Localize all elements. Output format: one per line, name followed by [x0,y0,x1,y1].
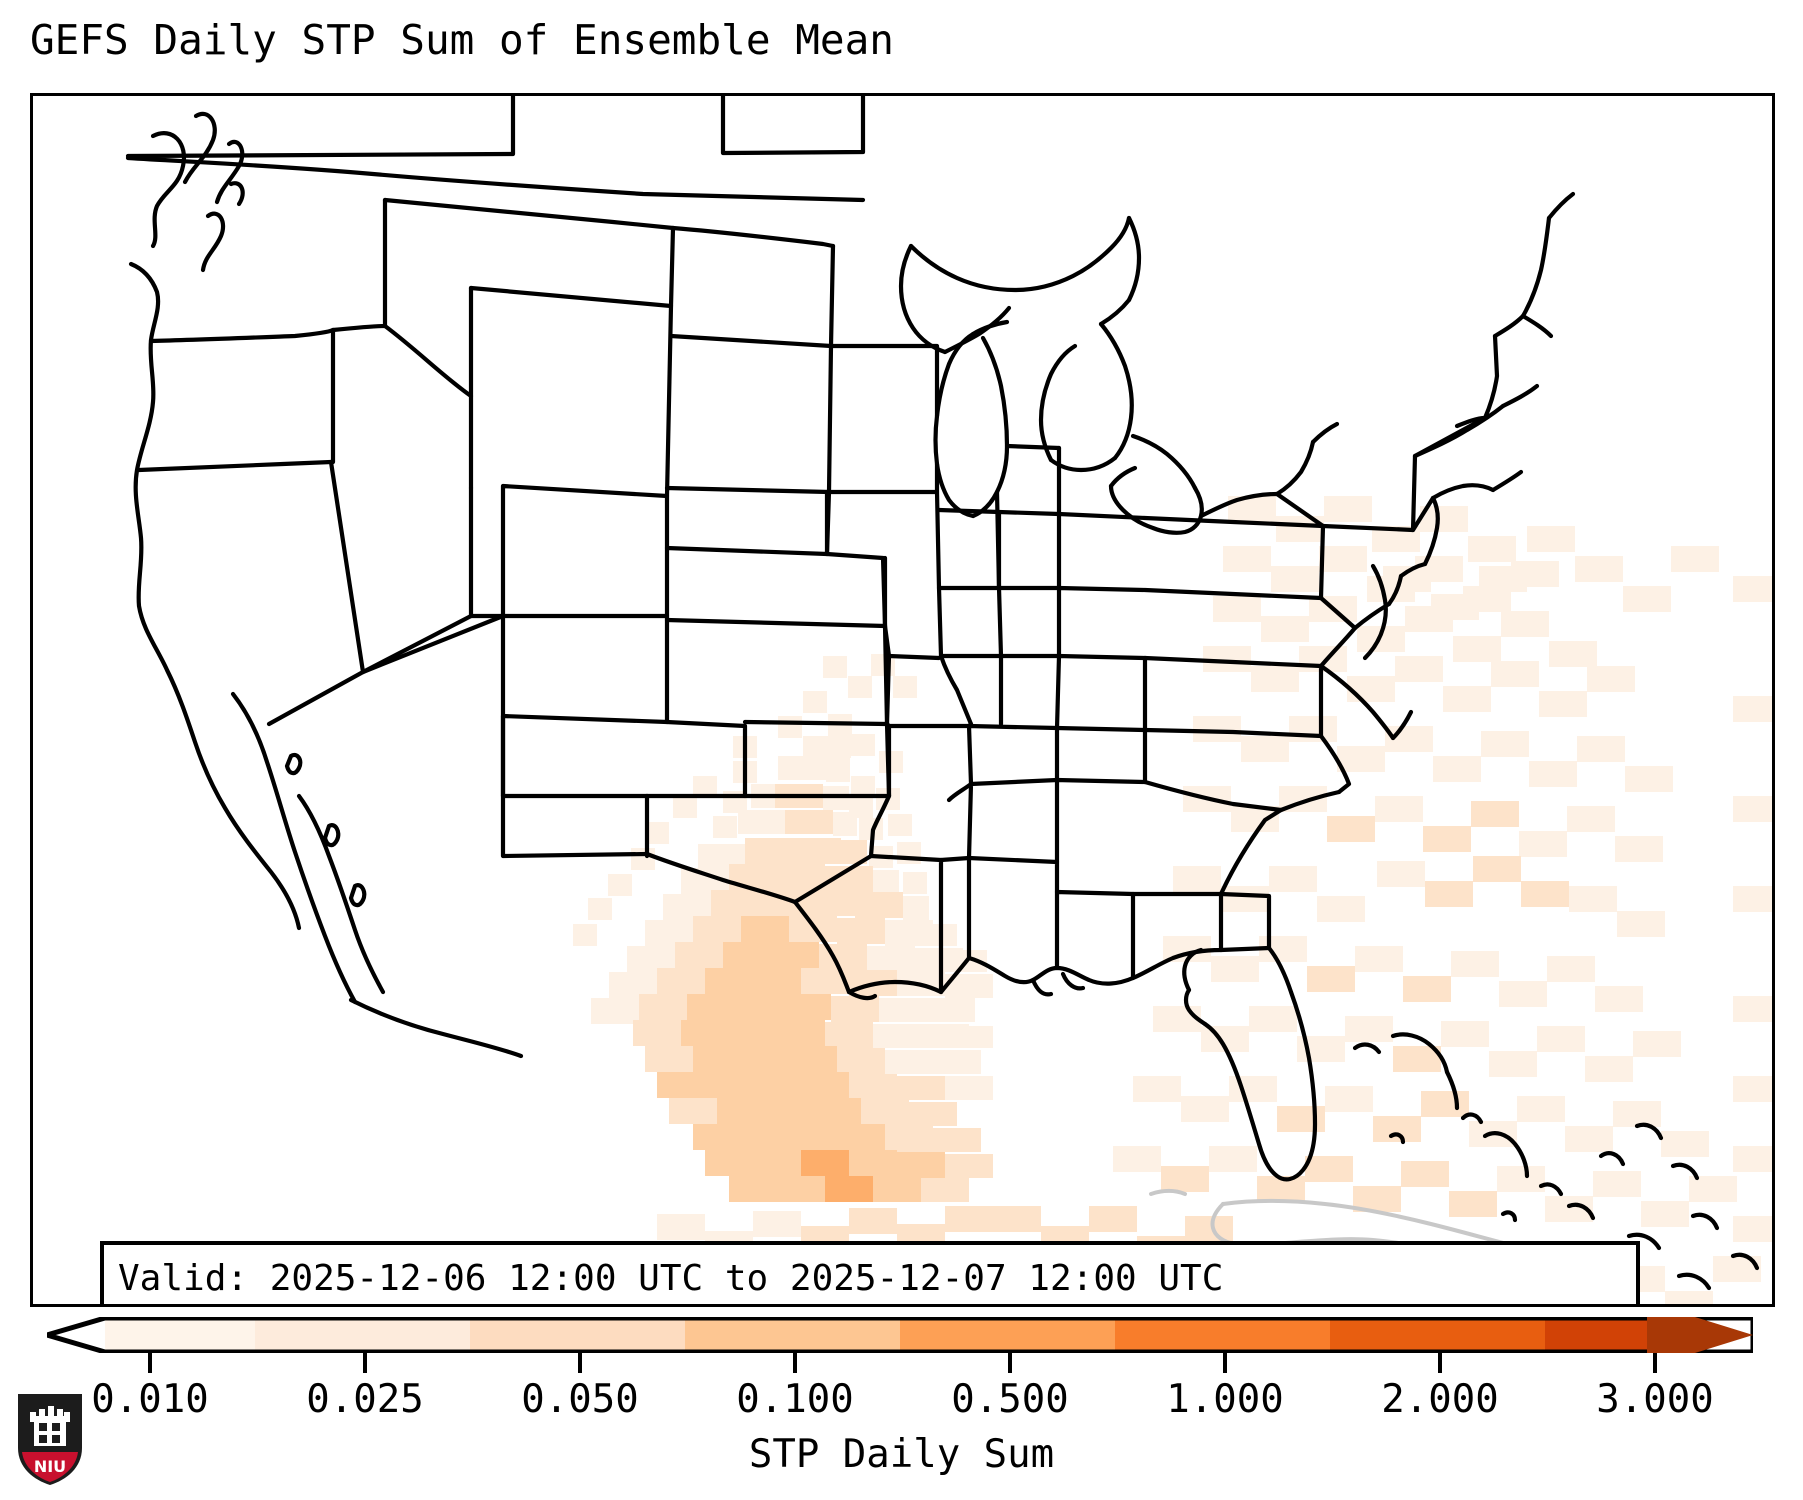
colorbar-tick-5 [1223,1353,1227,1373]
colorbar-label-0.100: 0.100 [736,1377,853,1422]
map-geography-svg [33,96,1772,1304]
colorbar-tick-7 [1653,1353,1657,1373]
colorbar-label-3.000: 3.000 [1596,1377,1713,1422]
colorbar-max-arrow [1647,1317,1755,1353]
valid-period-text: Valid: 2025-12-06 12:00 UTC to 2025-12-0… [118,1254,1636,1303]
colorbar-label-0.025: 0.025 [306,1377,423,1422]
colorbar-label-1.000: 1.000 [1166,1377,1283,1422]
colorbar-tick-0 [148,1353,152,1373]
colorbar-label-0.010: 0.010 [91,1377,208,1422]
colorbar-axis-label: STP Daily Sum [0,1432,1803,1477]
colorbar-tick-3 [793,1353,797,1373]
colorbar-tick-2 [578,1353,582,1373]
forecast-info-box: Valid: 2025-12-06 12:00 UTC to 2025-12-0… [100,1241,1640,1307]
colorbar-label-0.050: 0.050 [521,1377,638,1422]
colorbar-label-0.500: 0.500 [951,1377,1068,1422]
colorbar-tick-4 [1008,1353,1012,1373]
colorbar-outline [47,1317,1753,1353]
niu-logo-text: NIU [34,1457,66,1476]
colorbar-tick-6 [1438,1353,1442,1373]
page-title: GEFS Daily STP Sum of Ensemble Mean [30,16,894,64]
niu-logo: NIU [14,1390,86,1488]
map-panel[interactable]: Valid: 2025-12-06 12:00 UTC to 2025-12-0… [30,93,1775,1307]
colorbar[interactable]: 0.0100.0250.0500.1000.5001.0002.0003.000 [0,1307,1803,1427]
colorbar-tick-1 [363,1353,367,1373]
colorbar-label-2.000: 2.000 [1381,1377,1498,1422]
